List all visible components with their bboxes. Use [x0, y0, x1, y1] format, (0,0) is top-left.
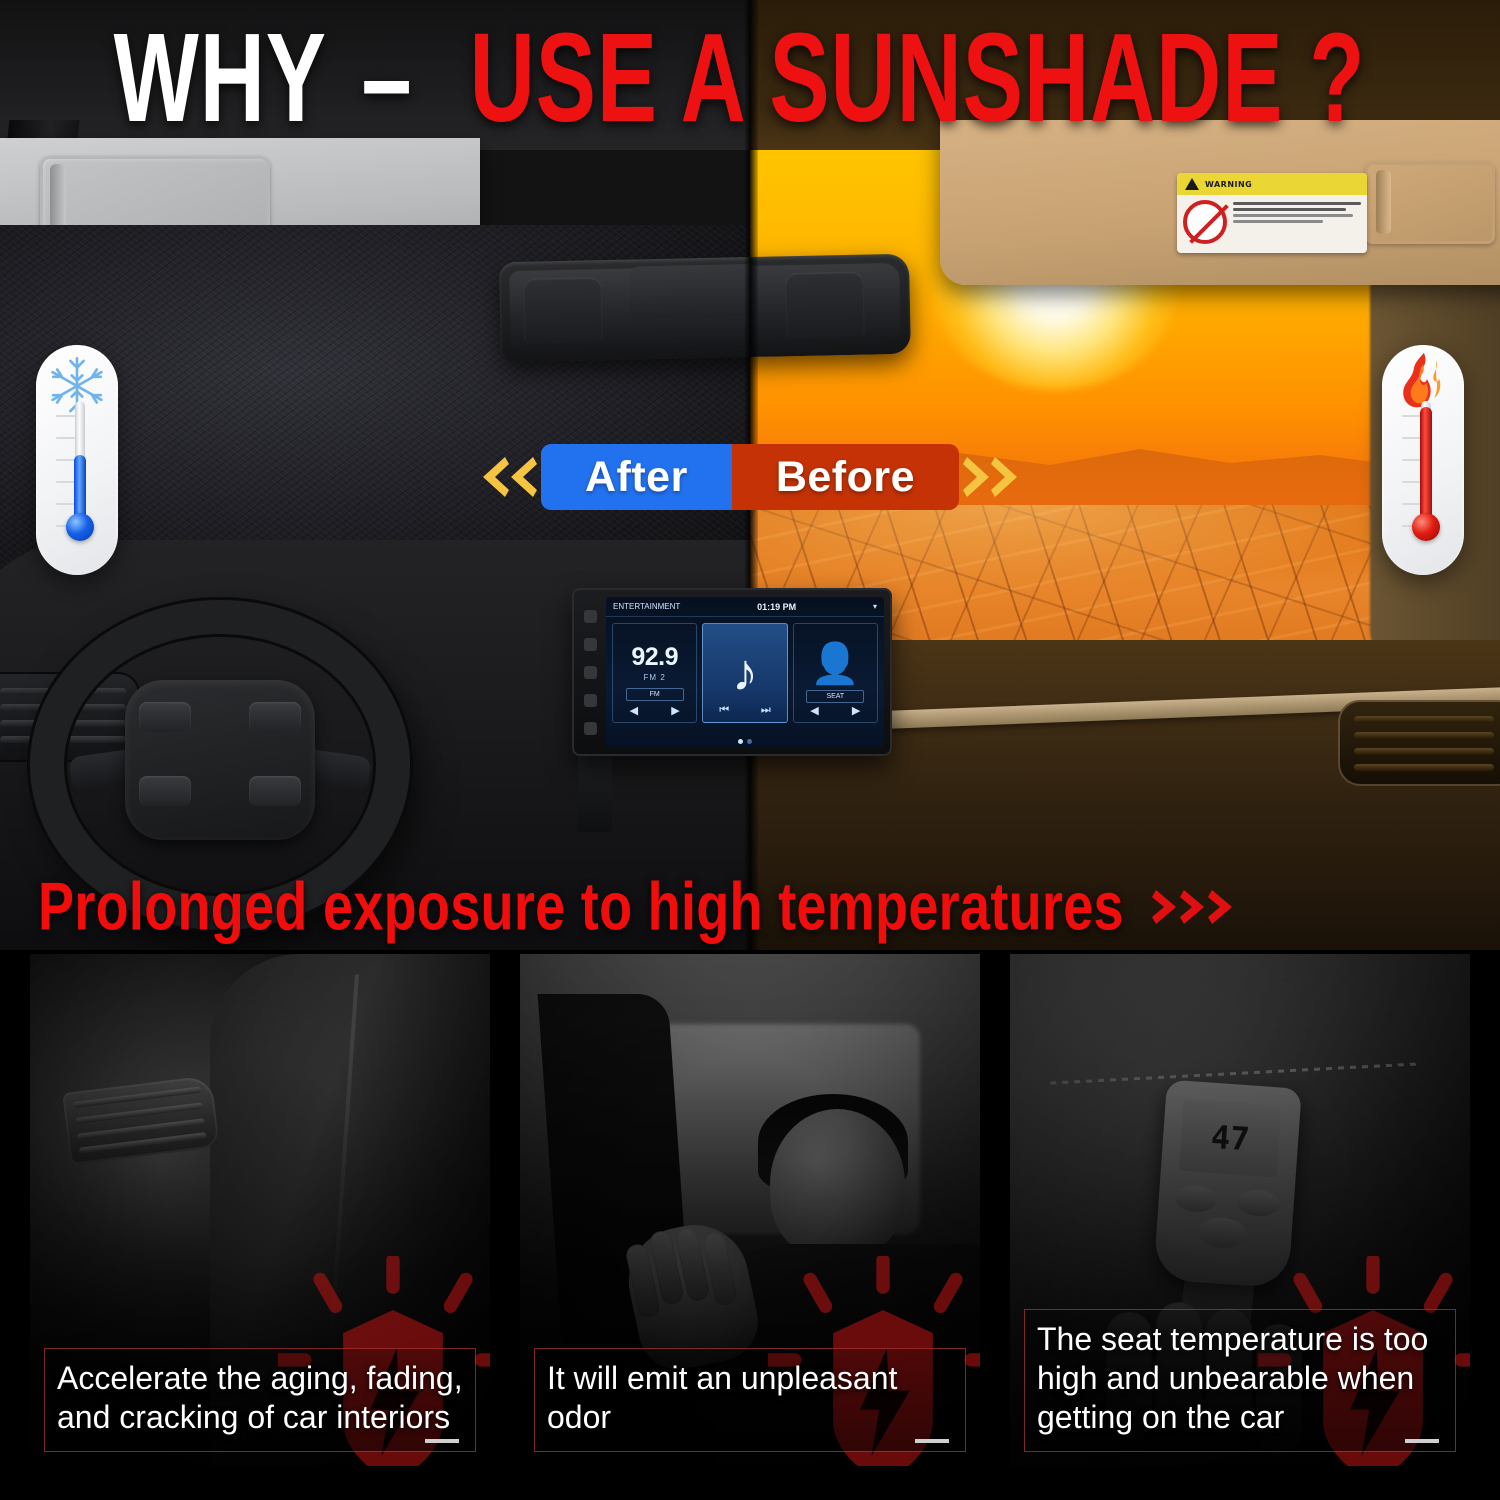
radio-frequency: 92.9	[631, 645, 678, 670]
head-unit-clock: 01:19 PM	[757, 602, 796, 612]
rearview-mirror	[499, 254, 911, 363]
radio-band: FM 2	[644, 673, 666, 682]
radio-seek-prev[interactable]: ◀	[630, 704, 638, 717]
radio-seek-arrows[interactable]: ◀ ▶	[613, 704, 696, 717]
infotainment-head-unit[interactable]: ENTERTAINMENT 01:19 PM ▾ 92.9 FM 2 FM ◀ …	[572, 588, 892, 756]
hu-button-home[interactable]	[584, 638, 597, 651]
steering-wheel	[30, 600, 410, 930]
profile-tile[interactable]: 👤 SEAT ◀ ▶	[793, 623, 878, 723]
wheel-button-2	[249, 702, 301, 732]
head-unit-statusbar-right: ▾	[873, 602, 877, 611]
sun-visor-right: WARNING	[940, 120, 1500, 285]
product-infographic: WARNING	[0, 0, 1500, 1500]
panel-odor-caption: It will emit an unpleasant odor	[534, 1348, 966, 1452]
air-vent-right	[1338, 700, 1500, 786]
chevrons-left-icon	[479, 454, 541, 500]
chevrons-right-icon	[959, 454, 1021, 500]
warning-title: WARNING	[1205, 180, 1252, 189]
head-unit-screen[interactable]: ENTERTAINMENT 01:19 PM ▾ 92.9 FM 2 FM ◀ …	[606, 597, 884, 747]
profile-next[interactable]: ▶	[852, 704, 860, 717]
driver-profile-icon: 👤	[810, 644, 860, 684]
warning-text-lines	[1233, 200, 1361, 244]
headliner	[0, 0, 750, 150]
profile-arrows[interactable]: ◀ ▶	[794, 704, 877, 717]
media-prev-icon[interactable]: ⏮	[719, 704, 729, 717]
radio-tile[interactable]: 92.9 FM 2 FM ◀ ▶	[612, 623, 697, 723]
panel-seat-temperature: 47 The seat temperature is too high a	[1010, 954, 1470, 1466]
mirror-rear-seat-2	[785, 272, 864, 338]
caption-underscore	[425, 1439, 459, 1443]
hu-button-nav[interactable]	[584, 694, 597, 707]
before-badge[interactable]: Before	[732, 444, 959, 510]
profile-prev[interactable]: ◀	[810, 704, 818, 717]
radio-preset-chip[interactable]: FM	[626, 688, 684, 701]
seat-chip[interactable]: SEAT	[806, 690, 864, 703]
mirror-glass	[509, 263, 901, 351]
wheel-button-4	[249, 776, 301, 806]
benefit-panels: Accelerate the aging, fading, and cracki…	[0, 950, 1500, 1500]
mirror-rear-seat-1	[523, 277, 602, 343]
panel-odor: It will emit an unpleasant odor	[520, 954, 980, 1466]
warning-label-body	[1177, 195, 1367, 249]
no-child-seat-airbag-icon	[1183, 200, 1227, 244]
before-after-hero: WARNING	[0, 0, 1500, 950]
page-indicator-dots	[606, 739, 884, 744]
media-tile[interactable]: ♪ ⏮ ⏭	[702, 623, 787, 723]
before-after-toggle: After Before	[0, 432, 1500, 522]
panel-aging-caption-text: Accelerate the aging, fading, and cracki…	[57, 1360, 463, 1435]
hu-button-power[interactable]	[584, 610, 597, 623]
mirror-headrest	[629, 264, 758, 319]
radio-seek-next[interactable]: ▶	[671, 704, 679, 717]
panel-seat-temperature-caption: The seat temperature is too high and unb…	[1024, 1309, 1456, 1452]
visor-clip-right	[1376, 170, 1391, 234]
head-unit-side-buttons[interactable]	[580, 602, 600, 742]
warning-label-header: WARNING	[1177, 173, 1367, 195]
airbag-warning-label: WARNING	[1177, 173, 1367, 253]
panel-aging-caption: Accelerate the aging, fading, and cracki…	[44, 1348, 476, 1452]
hu-button-volume[interactable]	[584, 666, 597, 679]
wheel-button-1	[139, 702, 191, 732]
warning-triangle-icon	[1185, 178, 1199, 190]
panel-odor-caption-text: It will emit an unpleasant odor	[547, 1360, 897, 1435]
after-badge[interactable]: After	[541, 444, 732, 510]
head-unit-source-label: ENTERTAINMENT	[613, 602, 680, 611]
caption-underscore	[915, 1439, 949, 1443]
music-note-icon: ♪	[732, 647, 758, 699]
steering-wheel-hub	[125, 680, 315, 840]
head-unit-tiles: 92.9 FM 2 FM ◀ ▶ ♪ ⏮ ⏭	[606, 617, 884, 729]
media-next-icon[interactable]: ⏭	[761, 704, 771, 717]
panel-aging: Accelerate the aging, fading, and cracki…	[30, 954, 490, 1466]
caption-underscore	[1405, 1439, 1439, 1443]
head-unit-mount	[578, 752, 612, 832]
head-unit-statusbar: ENTERTAINMENT 01:19 PM ▾	[606, 597, 884, 617]
wheel-button-3	[139, 776, 191, 806]
hu-button-menu[interactable]	[584, 722, 597, 735]
panel-seat-temperature-caption-text: The seat temperature is too high and unb…	[1037, 1321, 1428, 1435]
media-transport-controls[interactable]: ⏮ ⏭	[703, 704, 786, 717]
